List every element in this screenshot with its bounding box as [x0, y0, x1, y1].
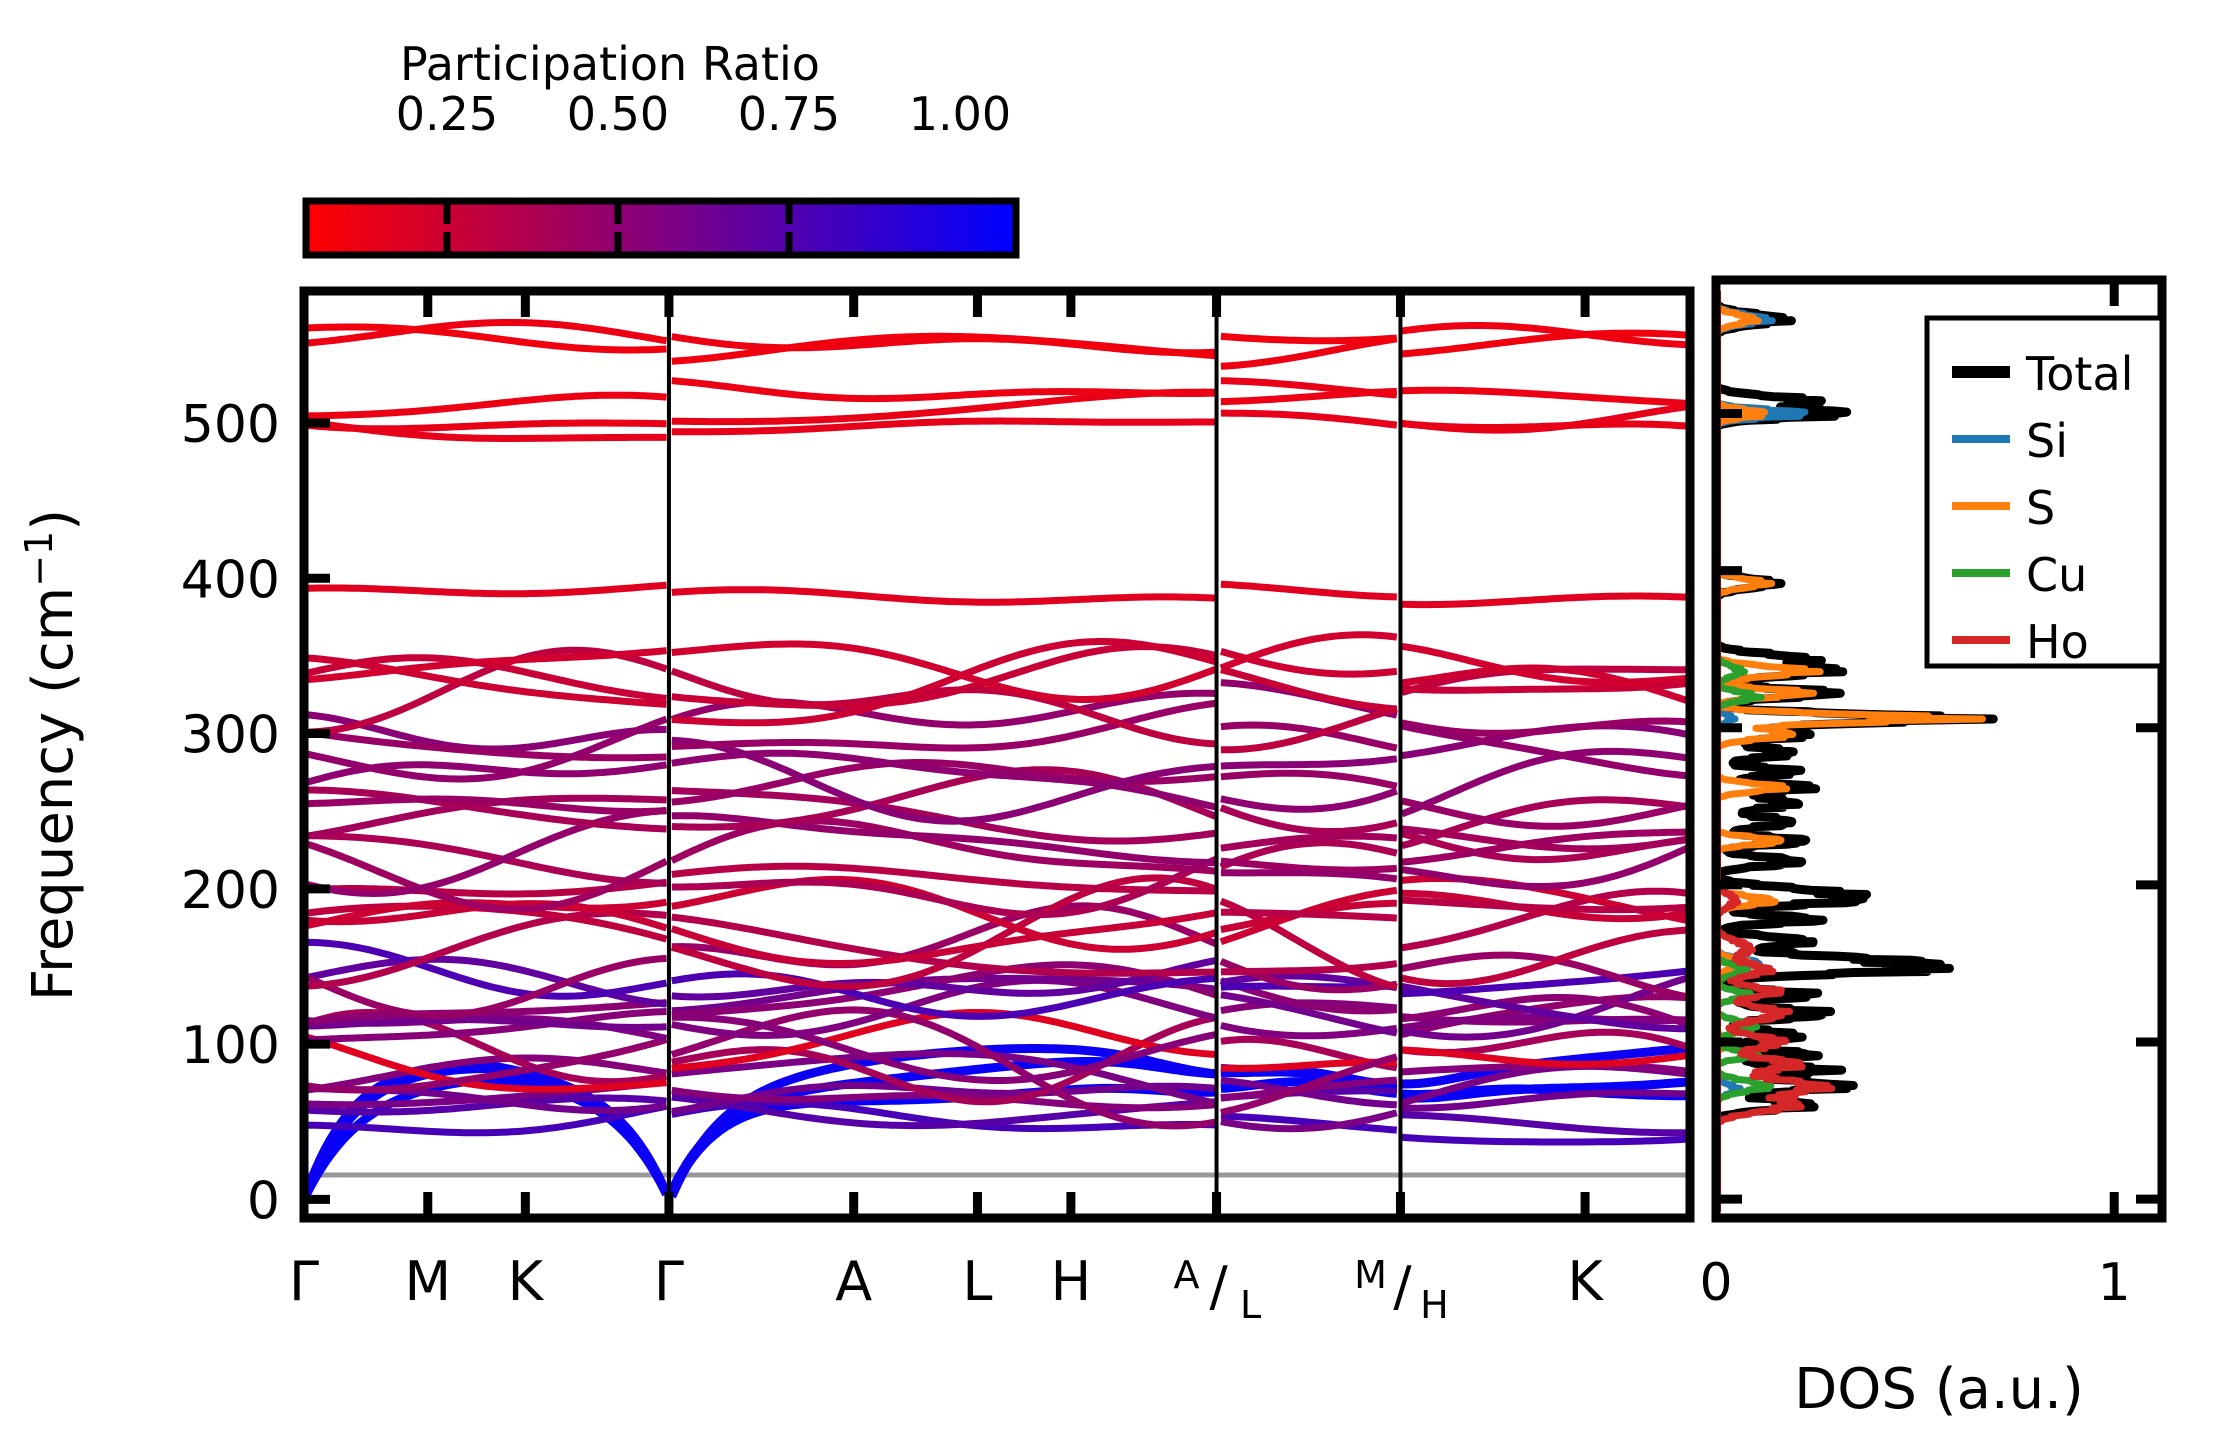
band-y-tick-label-300: 300	[181, 706, 280, 766]
band-x-label-3: Γ	[654, 1250, 684, 1313]
dos-legend[interactable]: TotalSiSCuHo	[1927, 318, 2162, 669]
colorbar-tick-label-0: 0.25	[396, 87, 498, 141]
band-x-label-slash-8: /	[1393, 1255, 1412, 1318]
dos-x-tick-label-0: 0	[1699, 1253, 1732, 1313]
band-x-label-6: H	[1051, 1250, 1092, 1313]
legend-label-total[interactable]: Total	[2025, 347, 2133, 401]
band-y-tick-label-500: 500	[181, 395, 280, 455]
band-x-label-den-7: L	[1240, 1283, 1261, 1327]
band-x-label-0: Γ	[289, 1250, 319, 1313]
colorbar-title: Participation Ratio	[400, 37, 820, 91]
band-y-tick-label-0: 0	[247, 1171, 280, 1231]
figure-canvas: Participation Ratio 0.25 0.50 0.75 1.00 …	[0, 0, 2222, 1455]
band-y-tick-label-100: 100	[181, 1016, 280, 1076]
legend-label-s[interactable]: S	[2026, 481, 2055, 535]
band-y-tick-label-400: 400	[181, 550, 280, 610]
band-x-label-num-8: M	[1354, 1253, 1387, 1297]
band-curve-39-seg-3	[1402, 424, 1690, 428]
phonon-band-dos-figure: Participation Ratio 0.25 0.50 0.75 1.00 …	[0, 0, 2222, 1455]
band-x-label-4: A	[835, 1250, 872, 1313]
band-x-label-5: L	[962, 1250, 992, 1313]
legend-label-cu[interactable]: Cu	[2026, 548, 2087, 602]
band-x-label-den-8: H	[1420, 1283, 1449, 1327]
dos-x-tick-label-1: 1	[2098, 1253, 2131, 1313]
band-x-label-9: K	[1567, 1250, 1604, 1313]
legend-label-ho[interactable]: Ho	[2026, 615, 2089, 669]
dos-x-axis-label: DOS (a.u.)	[1794, 1357, 2084, 1422]
colorbar-tick-label-3: 1.00	[909, 87, 1011, 141]
band-x-label-2: K	[508, 1250, 545, 1313]
band-x-label-num-7: A	[1174, 1253, 1200, 1297]
band-x-label-1: M	[404, 1250, 451, 1313]
colorbar-tick-label-1: 0.50	[567, 87, 669, 141]
band-y-tick-label-200: 200	[181, 861, 280, 921]
colorbar-gradient[interactable]	[306, 201, 1016, 255]
legend-label-si[interactable]: Si	[2026, 414, 2068, 468]
colorbar-tick-label-2: 0.75	[738, 87, 840, 141]
band-x-label-slash-7: /	[1209, 1255, 1228, 1318]
